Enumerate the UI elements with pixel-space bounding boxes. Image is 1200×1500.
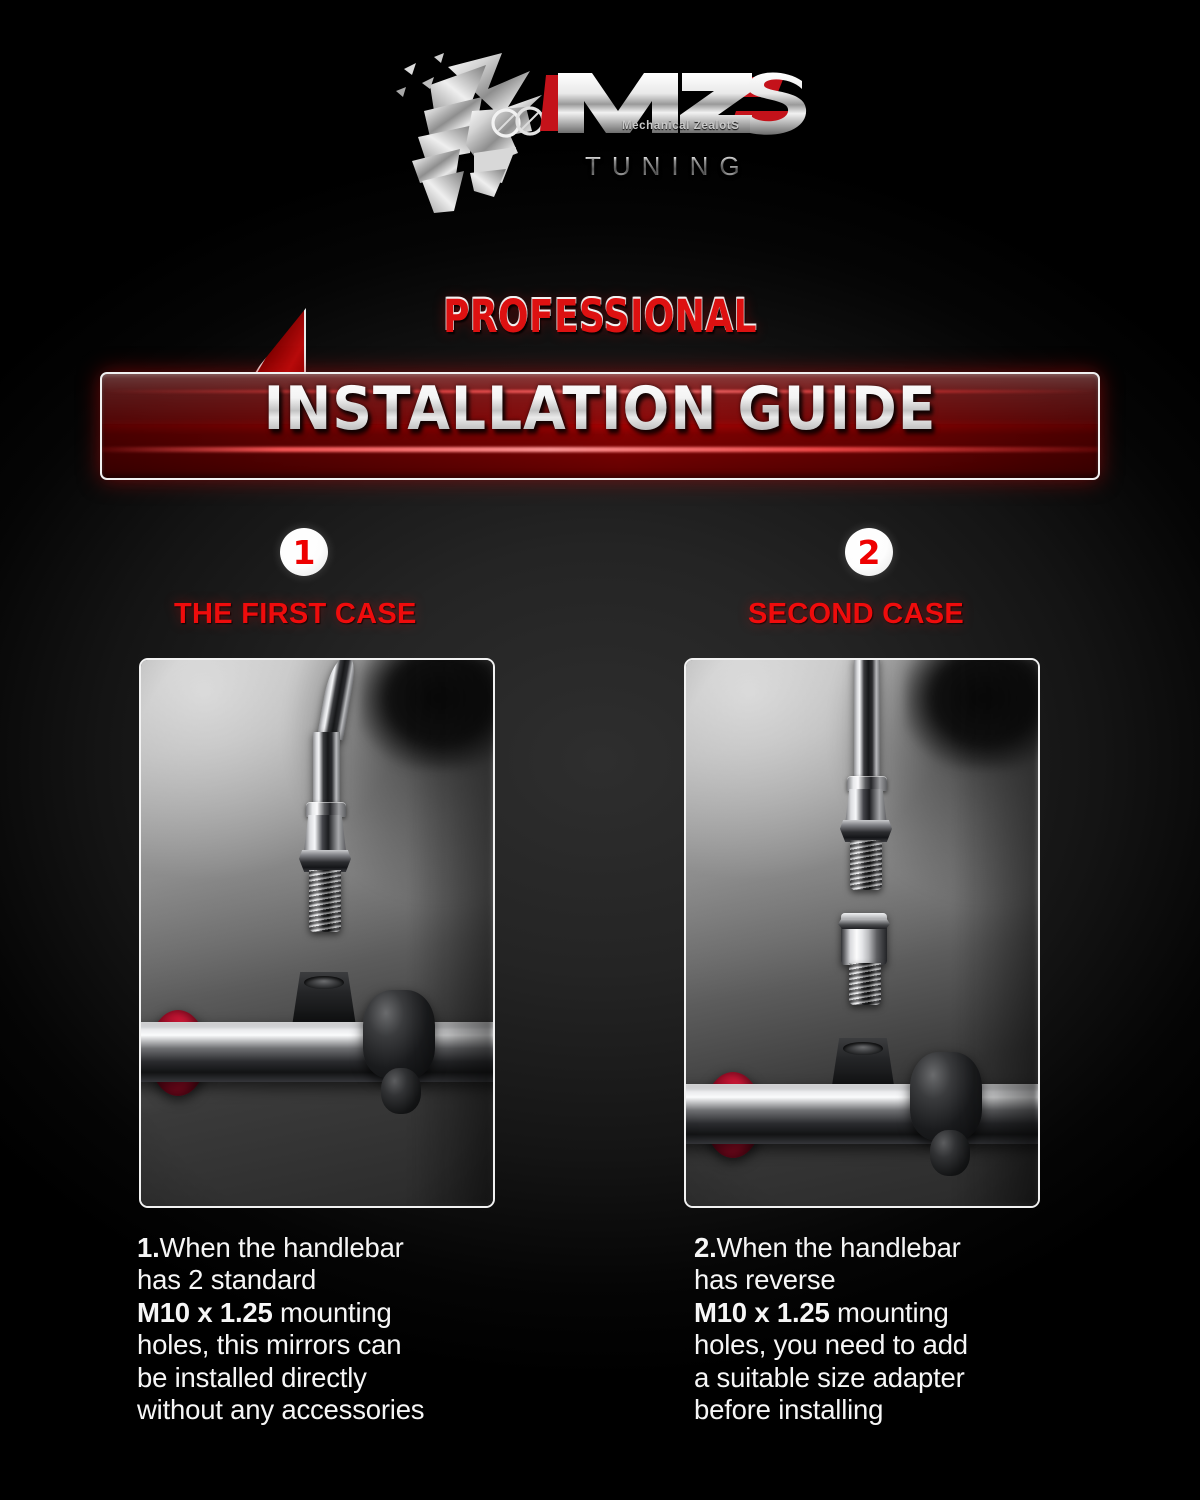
case-title-2: SECOND CASE bbox=[748, 598, 1110, 631]
caption-line: be installed directly bbox=[137, 1362, 527, 1394]
case-caption-1: 1.When the handlebar has 2 standard M10 … bbox=[137, 1232, 527, 1427]
installation-guide-page: Mechanical ZealotS TUNING PROFESSIONAL I… bbox=[0, 0, 1200, 1500]
caption-line: without any accessories bbox=[137, 1394, 527, 1426]
step-badge-1: 1 bbox=[280, 528, 328, 576]
case-photo-2 bbox=[684, 658, 1040, 1208]
caption-line: has reverse bbox=[694, 1264, 1084, 1296]
case-header-2: 2 SECOND CASE bbox=[650, 528, 1110, 631]
caption-line: holes, this mirrors can bbox=[137, 1329, 527, 1361]
brand-logo: Mechanical ZealotS TUNING bbox=[0, 46, 1200, 216]
caption-line: has 2 standard bbox=[137, 1264, 527, 1296]
caption-line: M10 x 1.25 mounting bbox=[694, 1297, 1084, 1329]
case-photo-1 bbox=[139, 658, 495, 1208]
banner-kicker: PROFESSIONAL bbox=[120, 290, 1080, 343]
step-badge-2: 2 bbox=[845, 528, 893, 576]
banner-title: INSTALLATION GUIDE bbox=[48, 374, 1152, 444]
caption-line: M10 x 1.25 mounting bbox=[137, 1297, 527, 1329]
case-title-1: THE FIRST CASE bbox=[174, 598, 560, 631]
logo-tagline: Mechanical ZealotS bbox=[622, 120, 740, 132]
caption-line: before installing bbox=[694, 1394, 1084, 1426]
robot-lion-head-icon bbox=[390, 49, 560, 214]
banner: PROFESSIONAL INSTALLATION GUIDE bbox=[0, 290, 1200, 490]
case-caption-2: 2.When the handlebar has reverse M10 x 1… bbox=[694, 1232, 1084, 1427]
case-header-1: 1 THE FIRST CASE bbox=[100, 528, 560, 631]
caption-line: holes, you need to add bbox=[694, 1329, 1084, 1361]
caption-line: a suitable size adapter bbox=[694, 1362, 1084, 1394]
caption-line: 2.When the handlebar bbox=[694, 1232, 1084, 1264]
logo-subline: TUNING bbox=[585, 151, 751, 182]
caption-line: 1.When the handlebar bbox=[137, 1232, 527, 1264]
